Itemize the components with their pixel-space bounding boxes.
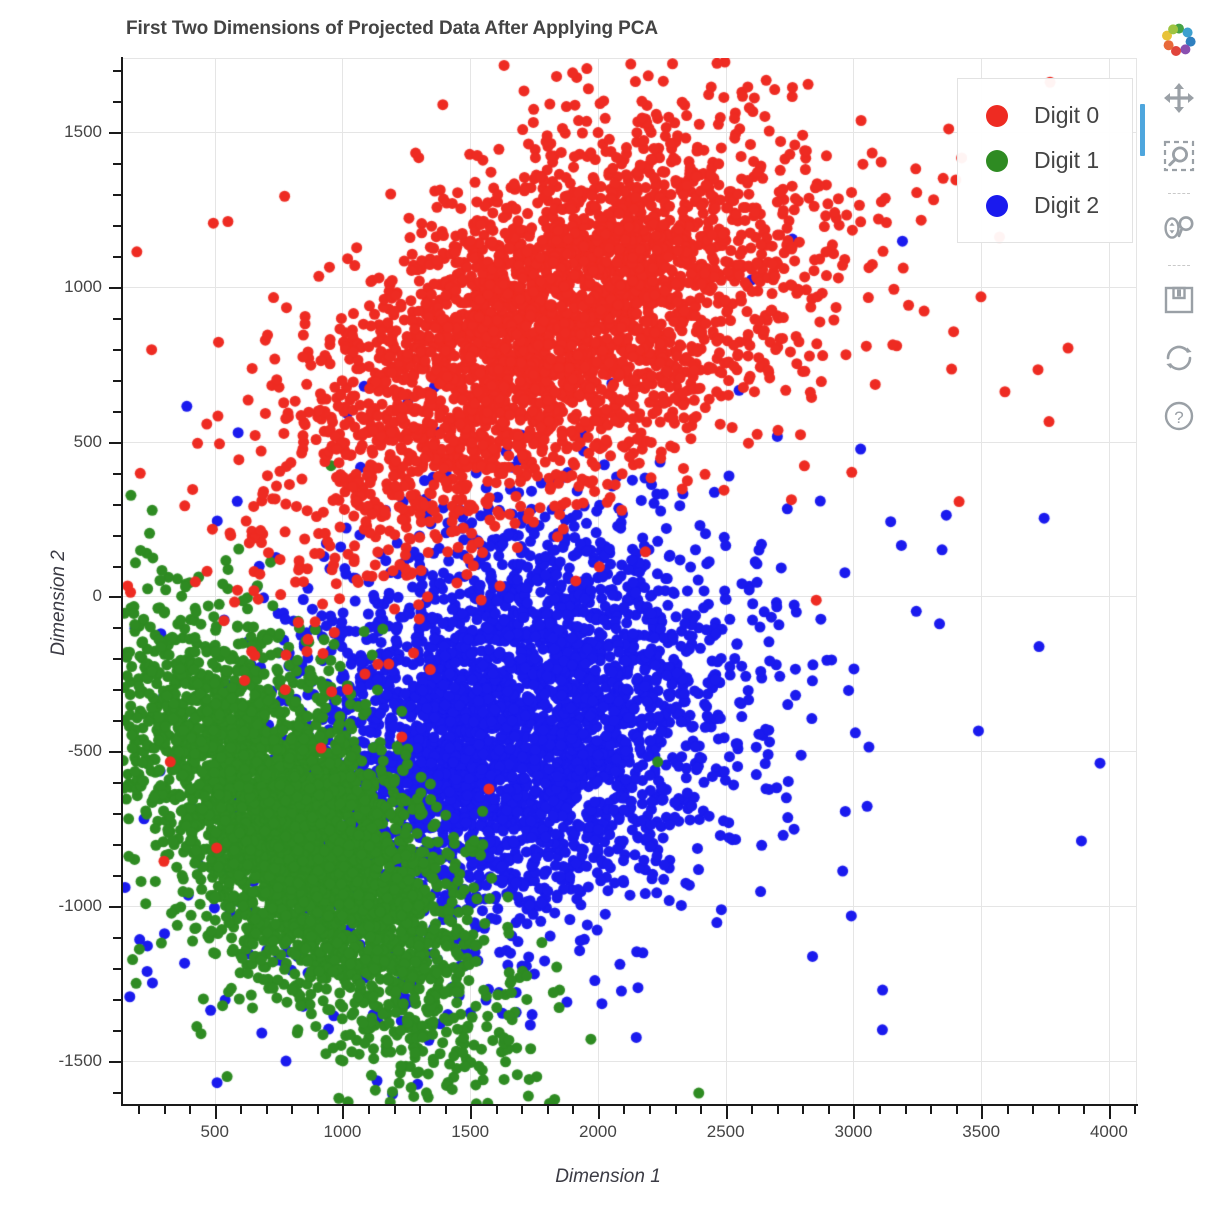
x-axis-minor-tick	[317, 1106, 319, 1114]
y-axis-minor-tick	[113, 627, 122, 629]
x-axis-minor-tick	[649, 1106, 651, 1114]
x-axis-minor-tick	[1134, 1106, 1136, 1114]
x-axis-minor-tick	[266, 1106, 268, 1114]
x-axis-minor-tick	[777, 1106, 779, 1114]
x-axis-tick-label: 1500	[451, 1122, 489, 1142]
y-axis-title: Dimension 2	[48, 550, 70, 656]
y-axis-minor-tick	[113, 1030, 122, 1032]
x-axis-minor-tick	[138, 1106, 140, 1114]
legend-item[interactable]: Digit 2	[958, 183, 1132, 228]
y-axis-minor-tick	[113, 875, 122, 877]
y-axis-minor-tick	[113, 70, 122, 72]
x-axis-minor-tick	[828, 1106, 830, 1114]
x-axis-minor-tick	[496, 1106, 498, 1114]
x-axis-tick-label: 2500	[707, 1122, 745, 1142]
x-axis-minor-tick	[956, 1106, 958, 1114]
x-axis-minor-tick	[802, 1106, 804, 1114]
x-axis-major-tick	[981, 1106, 983, 1119]
y-axis-minor-tick	[113, 411, 122, 413]
x-axis-minor-tick	[1083, 1106, 1085, 1114]
plot-root: First Two Dimensions of Projected Data A…	[0, 0, 1216, 1206]
x-axis-major-tick	[215, 1106, 217, 1119]
x-axis-minor-tick	[572, 1106, 574, 1114]
x-axis-minor-tick	[675, 1106, 677, 1114]
legend-swatch-circle-icon	[986, 195, 1008, 217]
x-axis-major-tick	[726, 1106, 728, 1119]
x-axis-minor-tick	[1058, 1106, 1060, 1114]
x-axis-major-tick	[470, 1106, 472, 1119]
y-axis-minor-tick	[113, 999, 122, 1001]
x-axis-minor-tick	[905, 1106, 907, 1114]
plot-toolbar[interactable]: ?	[1148, 18, 1210, 452]
x-axis-minor-tick	[240, 1106, 242, 1114]
legend-item-label: Digit 0	[1034, 102, 1099, 129]
y-axis-line	[121, 57, 123, 1105]
y-axis-minor-tick	[113, 937, 122, 939]
y-axis-minor-tick	[113, 380, 122, 382]
page-title: First Two Dimensions of Projected Data A…	[126, 18, 658, 40]
x-axis-minor-tick	[879, 1106, 881, 1114]
save-icon[interactable]	[1157, 278, 1201, 322]
y-axis-tick-label: -500	[68, 741, 102, 761]
wheel-zoom-icon[interactable]	[1157, 206, 1201, 250]
x-axis-minor-tick	[700, 1106, 702, 1114]
reset-icon[interactable]	[1157, 336, 1201, 380]
x-axis-minor-tick	[189, 1106, 191, 1114]
pan-icon[interactable]	[1157, 76, 1201, 120]
legend[interactable]: Digit 0 Digit 1 Digit 2	[957, 78, 1133, 243]
y-axis-minor-tick	[113, 225, 122, 227]
x-axis-minor-tick	[445, 1106, 447, 1114]
y-axis-major-tick	[109, 1061, 122, 1063]
x-axis-minor-tick	[164, 1106, 166, 1114]
legend-swatch-circle-icon	[986, 105, 1008, 127]
x-axis-tick-label: 3500	[962, 1122, 1000, 1142]
x-axis-minor-tick	[291, 1106, 293, 1114]
legend-item-label: Digit 1	[1034, 147, 1099, 174]
help-icon[interactable]: ?	[1157, 394, 1201, 438]
toolbar-divider	[1168, 193, 1190, 195]
y-axis-tick-label: -1000	[59, 896, 102, 916]
y-axis-tick-label: 1500	[64, 122, 102, 142]
x-axis-minor-tick	[521, 1106, 523, 1114]
y-axis-major-tick	[109, 906, 122, 908]
y-axis-minor-tick	[113, 813, 122, 815]
y-axis-minor-tick	[113, 968, 122, 970]
y-axis-minor-tick	[113, 473, 122, 475]
x-axis-minor-tick	[368, 1106, 370, 1114]
y-axis-major-tick	[109, 442, 122, 444]
y-axis-minor-tick	[113, 535, 122, 537]
y-axis-major-tick	[109, 596, 122, 598]
y-axis-minor-tick	[113, 720, 122, 722]
y-axis-minor-tick	[113, 318, 122, 320]
x-axis-tick-label: 2000	[579, 1122, 617, 1142]
x-axis-minor-tick	[623, 1106, 625, 1114]
x-axis-minor-tick	[930, 1106, 932, 1114]
x-axis-tick-label: 3000	[835, 1122, 873, 1142]
y-axis-title-wrap: Dimension 2	[8, 0, 34, 1206]
x-axis-major-tick	[853, 1106, 855, 1119]
y-axis-minor-tick	[113, 566, 122, 568]
y-axis-minor-tick	[113, 844, 122, 846]
y-axis-minor-tick	[113, 689, 122, 691]
x-axis-minor-tick	[419, 1106, 421, 1114]
y-axis-tick-label: 500	[74, 432, 102, 452]
y-axis-minor-tick	[113, 782, 122, 784]
y-axis-minor-tick	[113, 349, 122, 351]
x-axis-minor-tick	[394, 1106, 396, 1114]
y-axis-tick-label: 1000	[64, 277, 102, 297]
x-axis-line	[121, 1104, 1138, 1106]
y-axis-tick-label: -1500	[59, 1051, 102, 1071]
x-axis-title: Dimension 1	[0, 1166, 1216, 1188]
x-axis-major-tick	[1109, 1106, 1111, 1119]
toolbar-divider	[1168, 265, 1190, 267]
legend-item[interactable]: Digit 0	[958, 93, 1132, 138]
bokeh-logo-icon[interactable]	[1157, 18, 1201, 62]
legend-item[interactable]: Digit 1	[958, 138, 1132, 183]
box-zoom-icon[interactable]	[1157, 134, 1201, 178]
y-axis-major-tick	[109, 287, 122, 289]
y-axis-minor-tick	[113, 658, 122, 660]
y-axis-major-tick	[109, 132, 122, 134]
x-axis-tick-label: 500	[201, 1122, 229, 1142]
legend-item-label: Digit 2	[1034, 192, 1099, 219]
x-axis-minor-tick	[1032, 1106, 1034, 1114]
x-axis-minor-tick	[1007, 1106, 1009, 1114]
legend-swatch-circle-icon	[986, 150, 1008, 172]
y-axis-minor-tick	[113, 256, 122, 258]
x-axis-major-tick	[598, 1106, 600, 1119]
active-tool-indicator	[1140, 104, 1145, 156]
y-axis-minor-tick	[113, 194, 122, 196]
x-axis-minor-tick	[751, 1106, 753, 1114]
x-axis-minor-tick	[547, 1106, 549, 1114]
y-axis-minor-tick	[113, 1092, 122, 1094]
y-axis-major-tick	[109, 751, 122, 753]
y-axis-minor-tick	[113, 163, 122, 165]
y-axis-minor-tick	[113, 101, 122, 103]
x-axis-tick-label: 1000	[324, 1122, 362, 1142]
y-axis-minor-tick	[113, 504, 122, 506]
svg-text:?: ?	[1174, 408, 1183, 427]
y-axis-tick-label: 0	[93, 586, 102, 606]
x-axis-major-tick	[342, 1106, 344, 1119]
x-axis-tick-label: 4000	[1090, 1122, 1128, 1142]
